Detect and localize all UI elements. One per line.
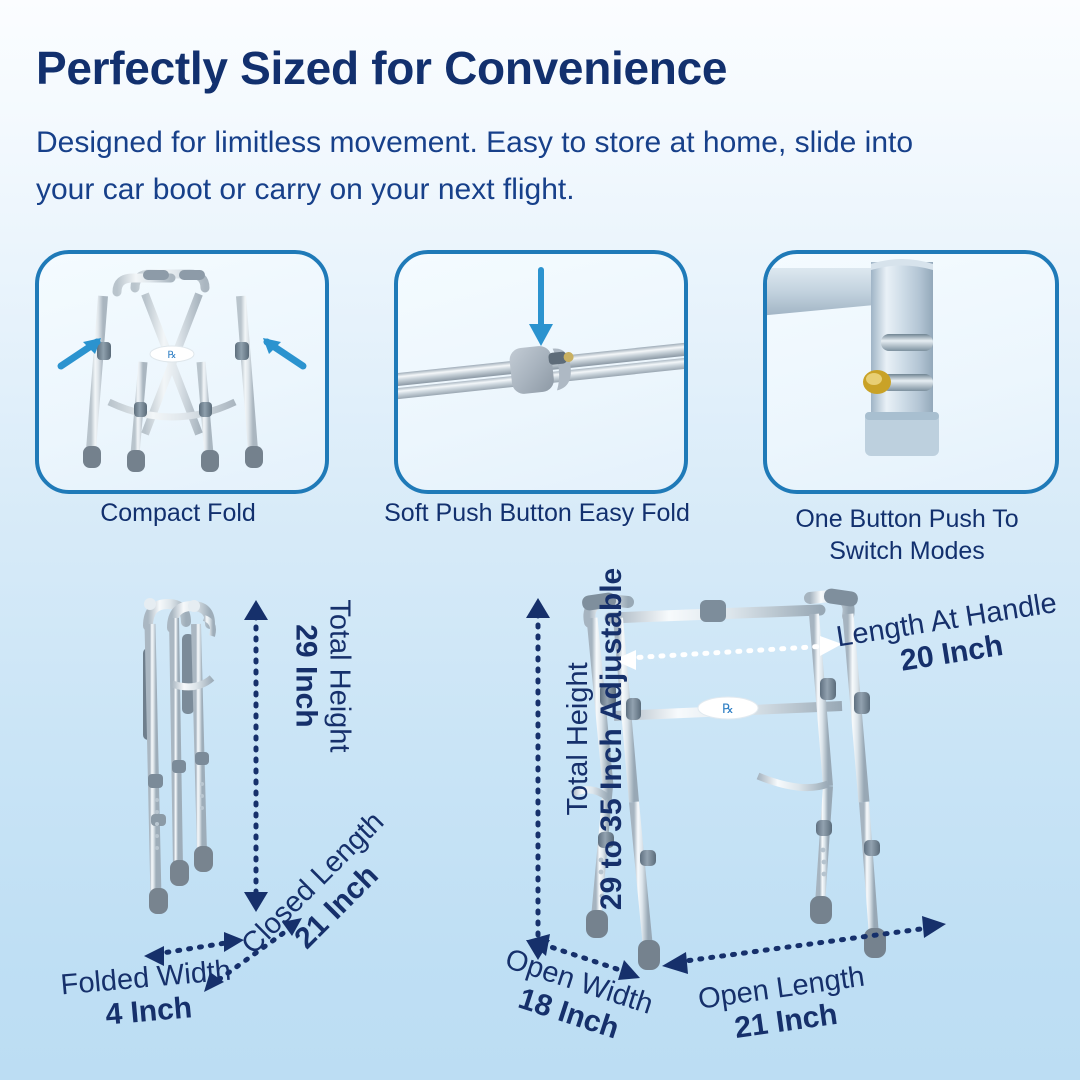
feature-caption-0: Compact Fold <box>35 497 321 529</box>
page-subtitle: Designed for limitless movement. Easy to… <box>36 120 976 213</box>
gold-push-button-icon <box>863 370 891 394</box>
page-title: Perfectly Sized for Convenience <box>36 44 1046 92</box>
svg-text:℞: ℞ <box>168 350 177 361</box>
dimension-line-length-at-handle <box>614 636 842 670</box>
dimension-label-folded-width: Folded Width 4 Inch <box>59 955 235 1037</box>
feature-card-switch-modes <box>763 250 1059 494</box>
feature-caption-1: Soft Push Button Easy Fold <box>380 497 694 529</box>
svg-text:℞: ℞ <box>722 701 734 716</box>
infographic-stage: Perfectly Sized for Convenience Designed… <box>0 0 1080 1080</box>
tube-push-button-photo-icon <box>767 254 1055 490</box>
feature-card-compact-fold: ℞ <box>35 250 329 494</box>
dimension-label-total-height-folded: Total Height 29 Inch <box>288 599 356 752</box>
cross-brace-clip-photo-icon <box>398 254 684 490</box>
feature-card-soft-push-button <box>394 250 688 494</box>
dimension-label-total-height-open: Total Height 29 to 35 Inch Adjustable <box>562 568 630 910</box>
dimension-line-total-height-folded <box>236 596 276 916</box>
folded-walker-photo-icon: ℞ <box>39 254 325 490</box>
feature-caption-2: One Button Push To Switch Modes <box>757 503 1057 567</box>
right-inward-arrow-icon <box>263 338 303 366</box>
down-arrow-icon <box>529 270 553 346</box>
dimension-line-total-height-open <box>518 594 558 964</box>
